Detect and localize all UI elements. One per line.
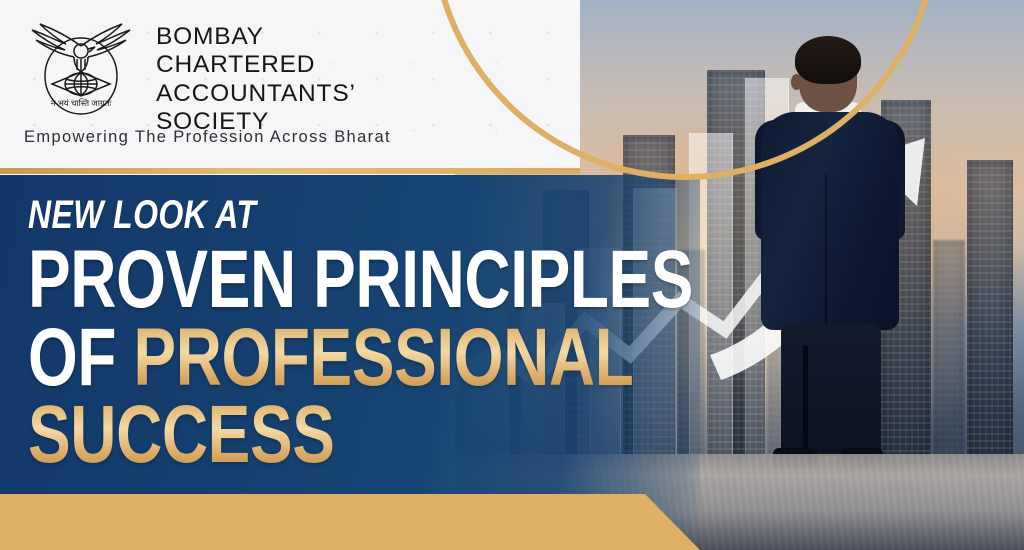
brand-tagline: Empowering The Profession Across Bharat <box>24 128 391 147</box>
headline-line-3: SUCCESS <box>28 397 693 472</box>
headline-line-3-gold: SUCCESS <box>28 389 334 480</box>
bcas-eagle-globe-emblem: न भयं चास्ति जाग्रतः <box>22 10 140 122</box>
headline-line-1: PROVEN PRINCIPLES <box>28 242 693 317</box>
headline-text-block: NEW LOOK AT PROVEN PRINCIPLES OF PROFESS… <box>28 196 881 473</box>
brand-line-3: ACCOUNTANTS’ <box>156 80 356 108</box>
brand-name: BOMBAY CHARTERED ACCOUNTANTS’ SOCIETY <box>156 23 356 137</box>
headline-kicker: NEW LOOK AT <box>28 196 710 234</box>
brand-line-2: CHARTERED <box>156 51 356 79</box>
brand-line-1: BOMBAY <box>156 23 356 51</box>
sanskrit-motto: न भयं चास्ति जाग्रतः <box>51 98 112 108</box>
panel-left-edge <box>0 175 4 550</box>
brand-lockup[interactable]: न भयं चास्ति जाग्रतः BOMBAY CHARTERED AC… <box>22 10 356 137</box>
headline-line-2: OF PROFESSIONAL <box>28 320 693 395</box>
gold-divider-rule <box>0 168 580 174</box>
banner-root: न भयं चास्ति जाग्रतः BOMBAY CHARTERED AC… <box>0 0 1024 550</box>
